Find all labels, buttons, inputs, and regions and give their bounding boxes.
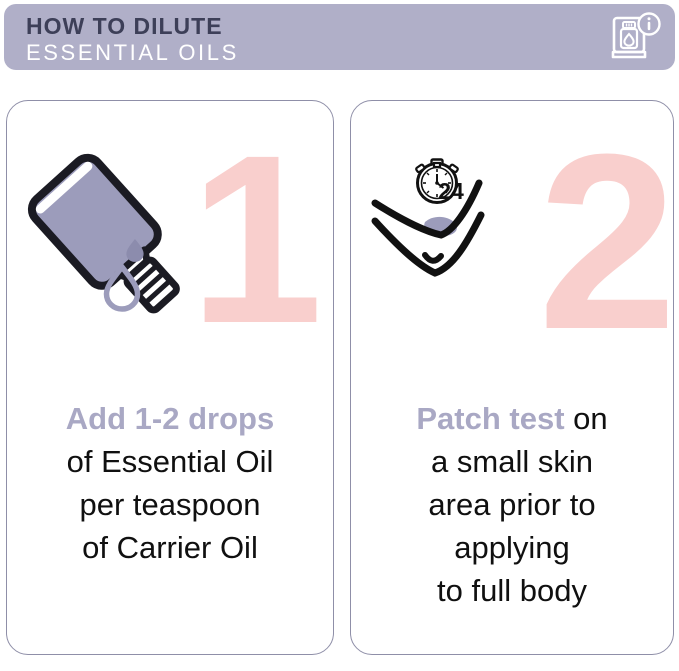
tilted-dropper-bottle-illustration <box>25 139 195 334</box>
step-2-caption-highlight: Patch test <box>416 401 564 436</box>
stopwatch-hours-label: 24 <box>438 178 464 204</box>
step-card-2[interactable]: 2 <box>350 100 674 655</box>
header-banner: HOW TO DILUTE ESSENTIAL OILS <box>4 4 675 70</box>
step-1-number: 1 <box>190 119 317 359</box>
step-1-caption-line-3: of Carrier Oil <box>15 526 325 569</box>
step-2-caption: Patch test on a small skin area prior to… <box>351 397 673 612</box>
step-2-artwork: 2 <box>351 101 673 401</box>
steps-container: 1 <box>0 84 679 671</box>
header-text-block: HOW TO DILUTE ESSENTIAL OILS <box>26 13 239 67</box>
step-2-caption-first-rest: on <box>565 401 608 436</box>
step-1-caption-line-2: per teaspoon <box>15 483 325 526</box>
step-1-caption-highlight: Add 1-2 drops <box>15 397 325 440</box>
step-2-caption-line-2: area prior to <box>359 483 665 526</box>
step-2-number: 2 <box>538 117 671 367</box>
page-title: HOW TO DILUTE <box>26 13 239 39</box>
step-1-caption: Add 1-2 drops of Essential Oil per teasp… <box>7 397 333 569</box>
step-2-caption-line-4: to full body <box>359 569 665 612</box>
arm-patch-test-stopwatch-illustration: 24 <box>367 139 547 324</box>
step-1-artwork: 1 <box>7 101 333 401</box>
oil-bottle-info-icon <box>609 12 661 62</box>
page-subtitle: ESSENTIAL OILS <box>26 39 239 67</box>
step-2-caption-line-3: applying <box>359 526 665 569</box>
step-card-1[interactable]: 1 <box>6 100 334 655</box>
step-2-caption-line-1: a small skin <box>359 440 665 483</box>
step-1-caption-line-1: of Essential Oil <box>15 440 325 483</box>
